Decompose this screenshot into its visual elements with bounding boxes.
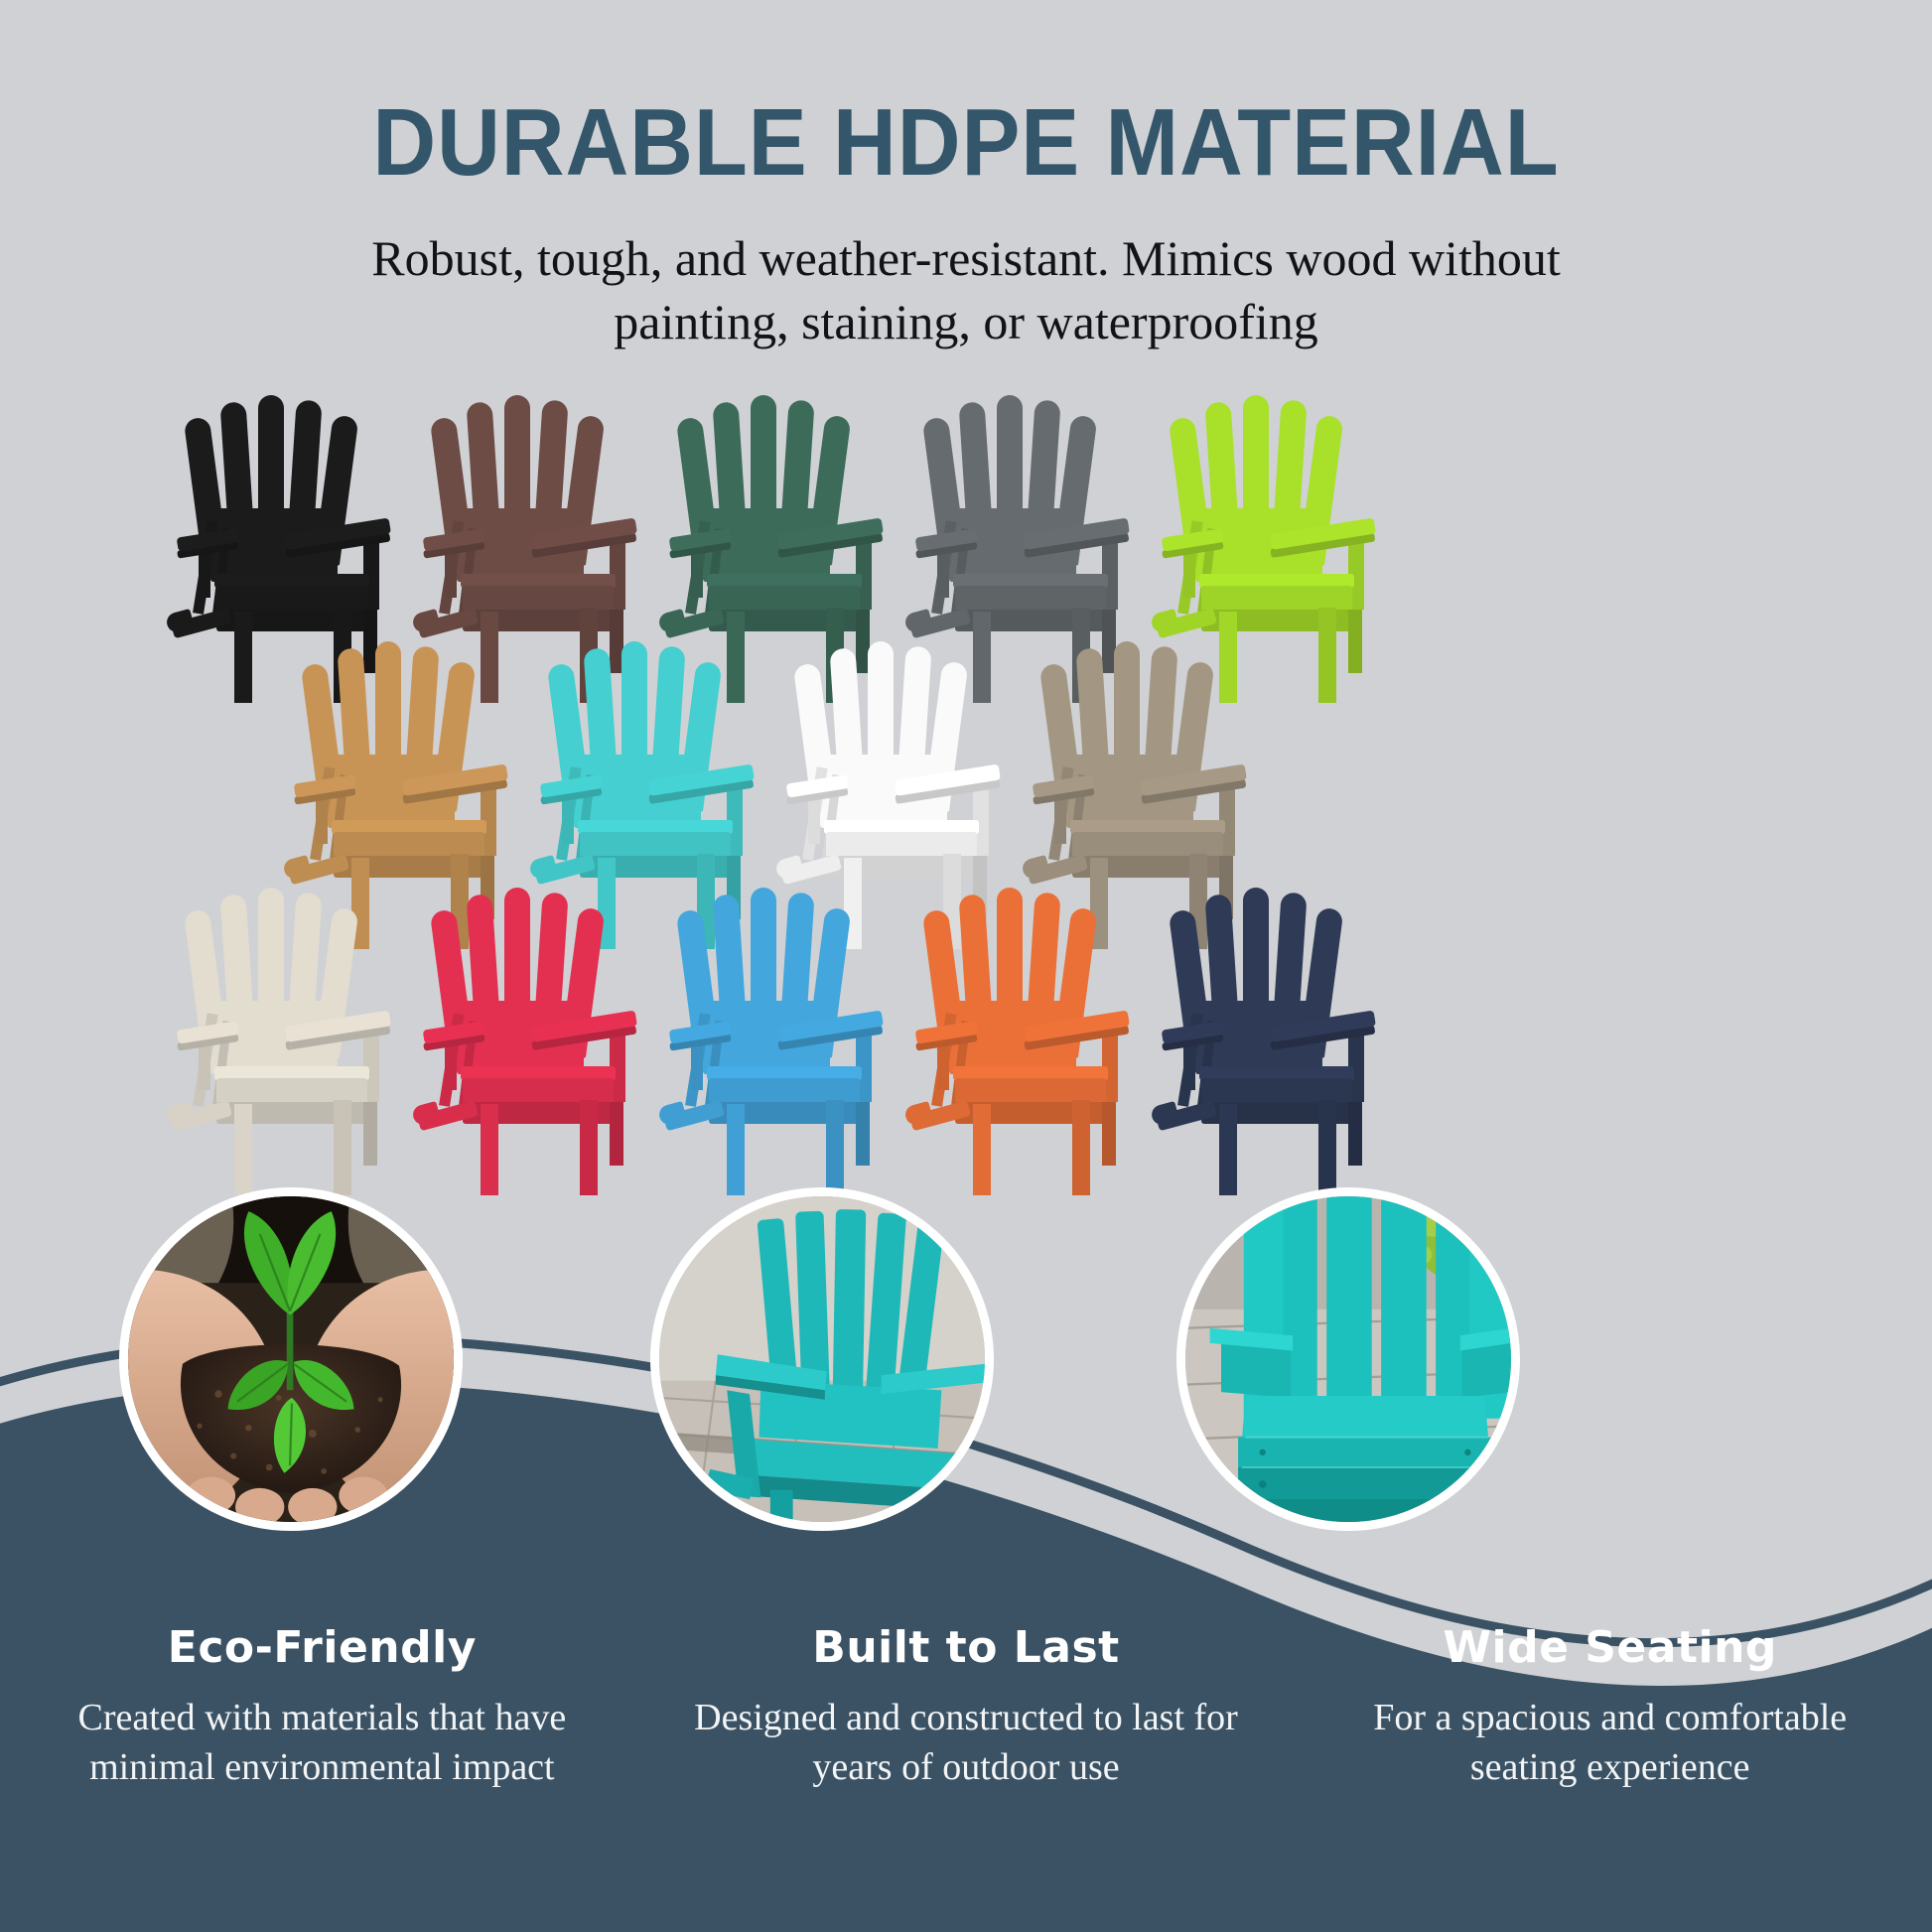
chair-swatch-turquoise[interactable] [522,625,770,913]
feature-title-eco-friendly: Eco-Friendly [30,1624,615,1672]
chair-color-grid [0,379,1932,1293]
adirondack-chair-icon [1144,379,1392,667]
page-title: DURABLE HDPE MATERIAL [77,95,1855,191]
chair-swatch-red[interactable] [405,872,653,1160]
chair-swatch-white[interactable] [768,625,1017,913]
feature-text-row: Eco-Friendly Created with materials that… [0,1624,1932,1853]
chair-row-1 [0,379,1932,667]
header-section: DURABLE HDPE MATERIAL Robust, tough, and… [0,0,1932,353]
chair-swatch-lime-green[interactable] [1144,379,1392,667]
chair-swatch-gray[interactable] [897,379,1146,667]
feature-title-wide-seating: Wide Seating [1317,1624,1902,1672]
hands-holding-seedling-photo [128,1196,454,1522]
feature-image-built-to-last[interactable] [650,1187,994,1531]
feature-built-to-last: Built to Last Designed and constructed t… [644,1624,1289,1853]
adirondack-chair-icon [522,625,770,913]
feature-wide-seating: Wide Seating For a spacious and comforta… [1288,1624,1932,1853]
feature-desc-wide-seating: For a spacious and comfortable seating e… [1317,1694,1902,1792]
feature-eco-friendly: Eco-Friendly Created with materials that… [0,1624,644,1853]
page-subtitle: Robust, tough, and weather-resistant. Mi… [291,226,1641,353]
chair-row-2 [0,625,1932,913]
feature-desc-built-to-last: Designed and constructed to last for yea… [674,1694,1259,1792]
adirondack-chair-icon [897,379,1146,667]
feature-desc-eco-friendly: Created with materials that have minimal… [30,1694,615,1792]
chair-swatch-teak-brown[interactable] [276,625,524,913]
chair-swatch-weathered-wood[interactable] [1015,625,1263,913]
chair-swatch-light-blue[interactable] [651,872,899,1160]
chair-row-3 [0,872,1932,1160]
chair-swatch-navy-blue[interactable] [1144,872,1392,1160]
adirondack-chair-icon [159,872,407,1160]
chair-swatch-ivory-cream[interactable] [159,872,407,1160]
adirondack-chair-icon [768,625,1017,913]
feature-image-eco-friendly[interactable] [119,1187,463,1531]
chair-swatch-orange[interactable] [897,872,1146,1160]
adirondack-chair-icon [897,872,1146,1160]
chair-swatch-maroon-brown[interactable] [405,379,653,667]
adirondack-chair-icon [405,872,653,1160]
adirondack-chair-icon [651,379,899,667]
adirondack-chair-icon [1144,872,1392,1160]
adirondack-chair-icon [276,625,524,913]
chair-swatch-dark-green[interactable] [651,379,899,667]
chair-swatch-black[interactable] [159,379,407,667]
teal-chair-wide-seat-closeup-photo [1185,1196,1511,1522]
feature-image-wide-seating[interactable] [1176,1187,1520,1531]
adirondack-chair-icon [1015,625,1263,913]
adirondack-chair-icon [405,379,653,667]
adirondack-chair-icon [651,872,899,1160]
teal-adirondack-chair-patio-photo [659,1196,985,1522]
adirondack-chair-icon [159,379,407,667]
feature-title-built-to-last: Built to Last [674,1624,1259,1672]
